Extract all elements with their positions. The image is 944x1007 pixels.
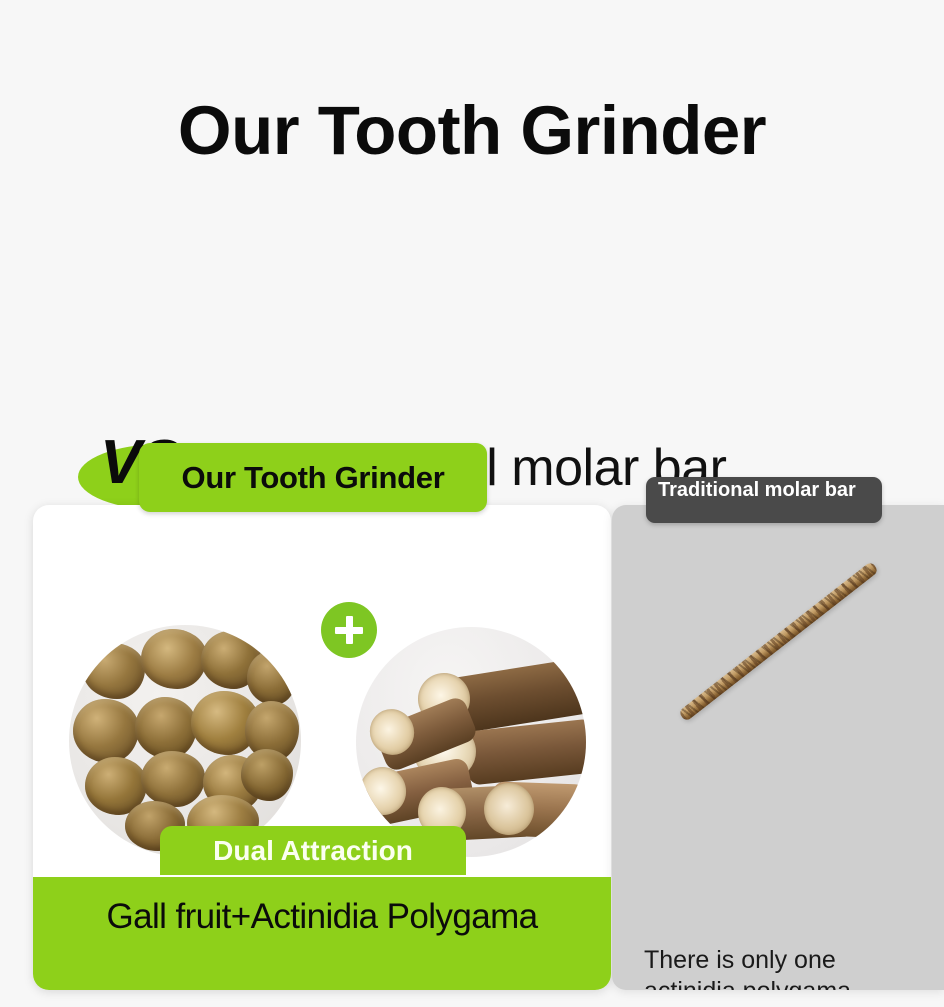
dual-attraction-badge: Dual Attraction bbox=[160, 826, 466, 875]
competitor-badge: Traditional molar bar bbox=[646, 477, 882, 523]
competitor-note-line-1: There is only one bbox=[644, 945, 851, 976]
our-ingredients-text: Gall fruit+Actinidia Polygama bbox=[106, 897, 537, 937]
single-stick-photo bbox=[678, 561, 879, 722]
competitor-note: There is only one actinidia polygama bbox=[644, 945, 851, 990]
page-title: Our Tooth Grinder bbox=[0, 96, 944, 165]
gall-fruit-photo bbox=[69, 625, 301, 857]
header: Our Tooth Grinder VS Traditional molar b… bbox=[0, 0, 944, 330]
competitor-card: There is only one actinidia polygama bbox=[612, 505, 944, 990]
our-ingredients-band: Gall fruit+Actinidia Polygama bbox=[33, 877, 611, 990]
our-product-badge: Our Tooth Grinder bbox=[139, 443, 487, 512]
competitor-note-line-2: actinidia polygama bbox=[644, 976, 851, 990]
comparison-section: Gall fruit+Actinidia Polygama Dual Attra… bbox=[0, 440, 944, 1007]
vs-subtitle: VS Traditional molar bar bbox=[0, 218, 944, 308]
plus-icon bbox=[321, 602, 377, 658]
our-product-card-body: Gall fruit+Actinidia Polygama bbox=[33, 505, 611, 990]
actinidia-sticks-photo bbox=[356, 627, 586, 857]
our-product-card: Gall fruit+Actinidia Polygama bbox=[33, 505, 611, 990]
